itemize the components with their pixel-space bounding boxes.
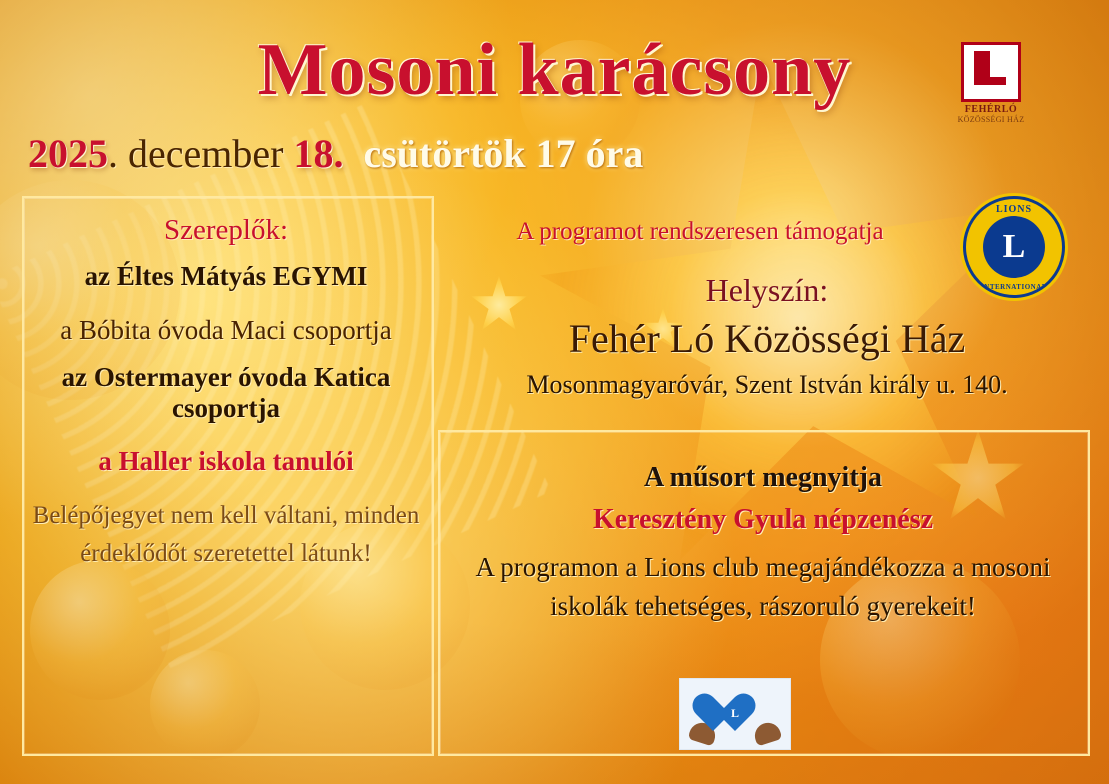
sponsor-line: A programot rendszeresen támogatja (440, 218, 960, 246)
lions-logo-letter: L (983, 216, 1045, 278)
cast-item-2: a Bóbita óvoda Maci csoportja (30, 312, 422, 348)
cast-item-3: az Ostermayer óvoda Katica csoportja (30, 362, 422, 424)
opening-label: A műsort megnyitja (448, 462, 1078, 494)
cast-item-4: a Haller iskola tanulói (30, 446, 422, 477)
hands-logo-letter: L (712, 706, 758, 721)
feherlo-mark-icon (961, 42, 1021, 102)
cast-section: Szereplők: az Éltes Mátyás EGYMI a Bóbit… (30, 206, 422, 572)
program-details: A műsort megnyitja Keresztény Gyula népz… (448, 462, 1078, 626)
lions-logo-top-text: LIONS (966, 204, 1062, 215)
venue-name: Fehér Ló Közösségi Ház (452, 315, 1082, 362)
cast-item-1: az Éltes Mátyás EGYMI (30, 261, 422, 292)
dateline-time: csütörtök 17 óra (363, 131, 643, 176)
dateline-month: . december (108, 131, 293, 176)
poster-canvas: Mosoni karácsony 2025. december 18. csüt… (0, 0, 1109, 784)
feherlo-logo: FEHÉRLÓ KÖZÖSSÉGI HÁZ (955, 42, 1027, 142)
feherlo-logo-name: FEHÉRLÓ (955, 104, 1027, 115)
venue-address: Mosonmagyaróvár, Szent István király u. … (452, 370, 1082, 400)
feherlo-logo-subtitle: KÖZÖSSÉGI HÁZ (955, 115, 1027, 124)
opening-performer: Keresztény Gyula népzenész (448, 504, 1078, 536)
donation-note: A programon a Lions club megajándékozza … (448, 548, 1078, 626)
lions-logo-bottom-text: INTERNATIONAL (966, 283, 1062, 291)
poster-title: Mosoni karácsony (0, 28, 1109, 113)
event-dateline: 2025. december 18. csütörtök 17 óra (28, 130, 1028, 177)
dateline-year: 2025 (28, 131, 108, 176)
venue-section: Helyszín: Fehér Ló Közösségi Ház Mosonma… (452, 272, 1082, 400)
admission-note: Belépőjegyet nem kell váltani, minden ér… (30, 497, 422, 572)
heart-icon: L (712, 693, 758, 735)
cast-heading: Szereplők: (30, 214, 422, 247)
lions-club-logo: LIONS L INTERNATIONAL (963, 196, 1065, 298)
dateline-day: 18. (293, 131, 343, 176)
lions-hands-heart-logo: L (679, 678, 791, 750)
